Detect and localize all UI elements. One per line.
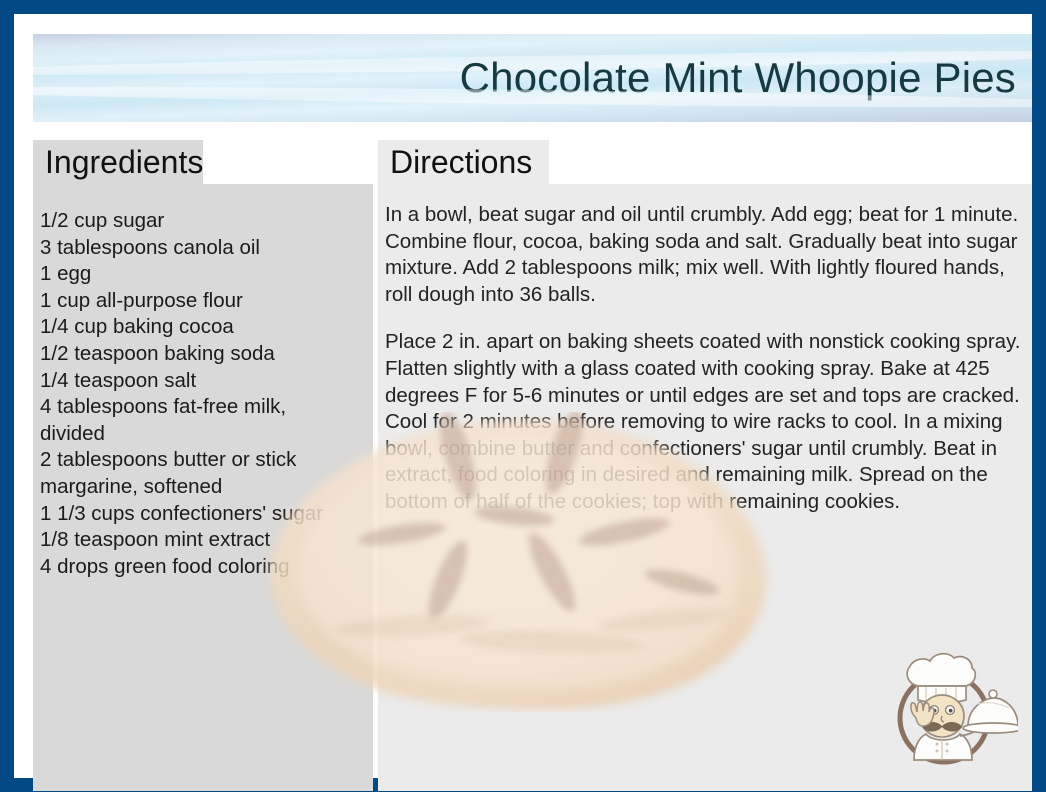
ingredients-list: 1/2 cup sugar 3 tablespoons canola oil 1…	[40, 208, 365, 580]
recipe-card-page: Chocolate Mint Whoopie Pies Ingredients …	[0, 0, 1046, 792]
ingredients-tab-notch	[203, 140, 373, 184]
list-item: 1/4 teaspoon salt	[40, 368, 365, 395]
list-item: 1 1/3 cups confectioners' sugar	[40, 501, 365, 528]
list-item: 1/2 teaspoon baking soda	[40, 341, 365, 368]
list-item: 1/2 cup sugar	[40, 208, 365, 235]
list-item: 1/4 cup baking cocoa	[40, 314, 365, 341]
ingredients-heading: Ingredients	[45, 146, 203, 178]
header-band: Chocolate Mint Whoopie Pies	[33, 34, 1032, 122]
list-item: 4 tablespoons fat-free milk, divided	[40, 394, 365, 447]
list-item: 4 drops green food coloring	[40, 554, 365, 581]
ingredients-panel: Ingredients 1/2 cup sugar 3 tablespoons …	[33, 140, 373, 791]
card-inner-mat: Chocolate Mint Whoopie Pies Ingredients …	[14, 14, 1032, 778]
list-item: 2 tablespoons butter or stick margarine,…	[40, 447, 365, 500]
page-title: Chocolate Mint Whoopie Pies	[460, 54, 1016, 102]
directions-body: In a bowl, beat sugar and oil until crum…	[385, 202, 1022, 516]
directions-heading: Directions	[390, 146, 532, 178]
directions-paragraph: In a bowl, beat sugar and oil until crum…	[385, 202, 1022, 308]
list-item: 1 egg	[40, 261, 365, 288]
list-item: 1 cup all-purpose flour	[40, 288, 365, 315]
directions-paragraph: Place 2 in. apart on baking sheets coate…	[385, 329, 1022, 515]
directions-tab-notch	[549, 140, 1032, 184]
list-item: 1/8 teaspoon mint extract	[40, 527, 365, 554]
directions-panel: Directions In a bowl, beat sugar and oil…	[378, 140, 1032, 791]
list-item: 3 tablespoons canola oil	[40, 235, 365, 262]
